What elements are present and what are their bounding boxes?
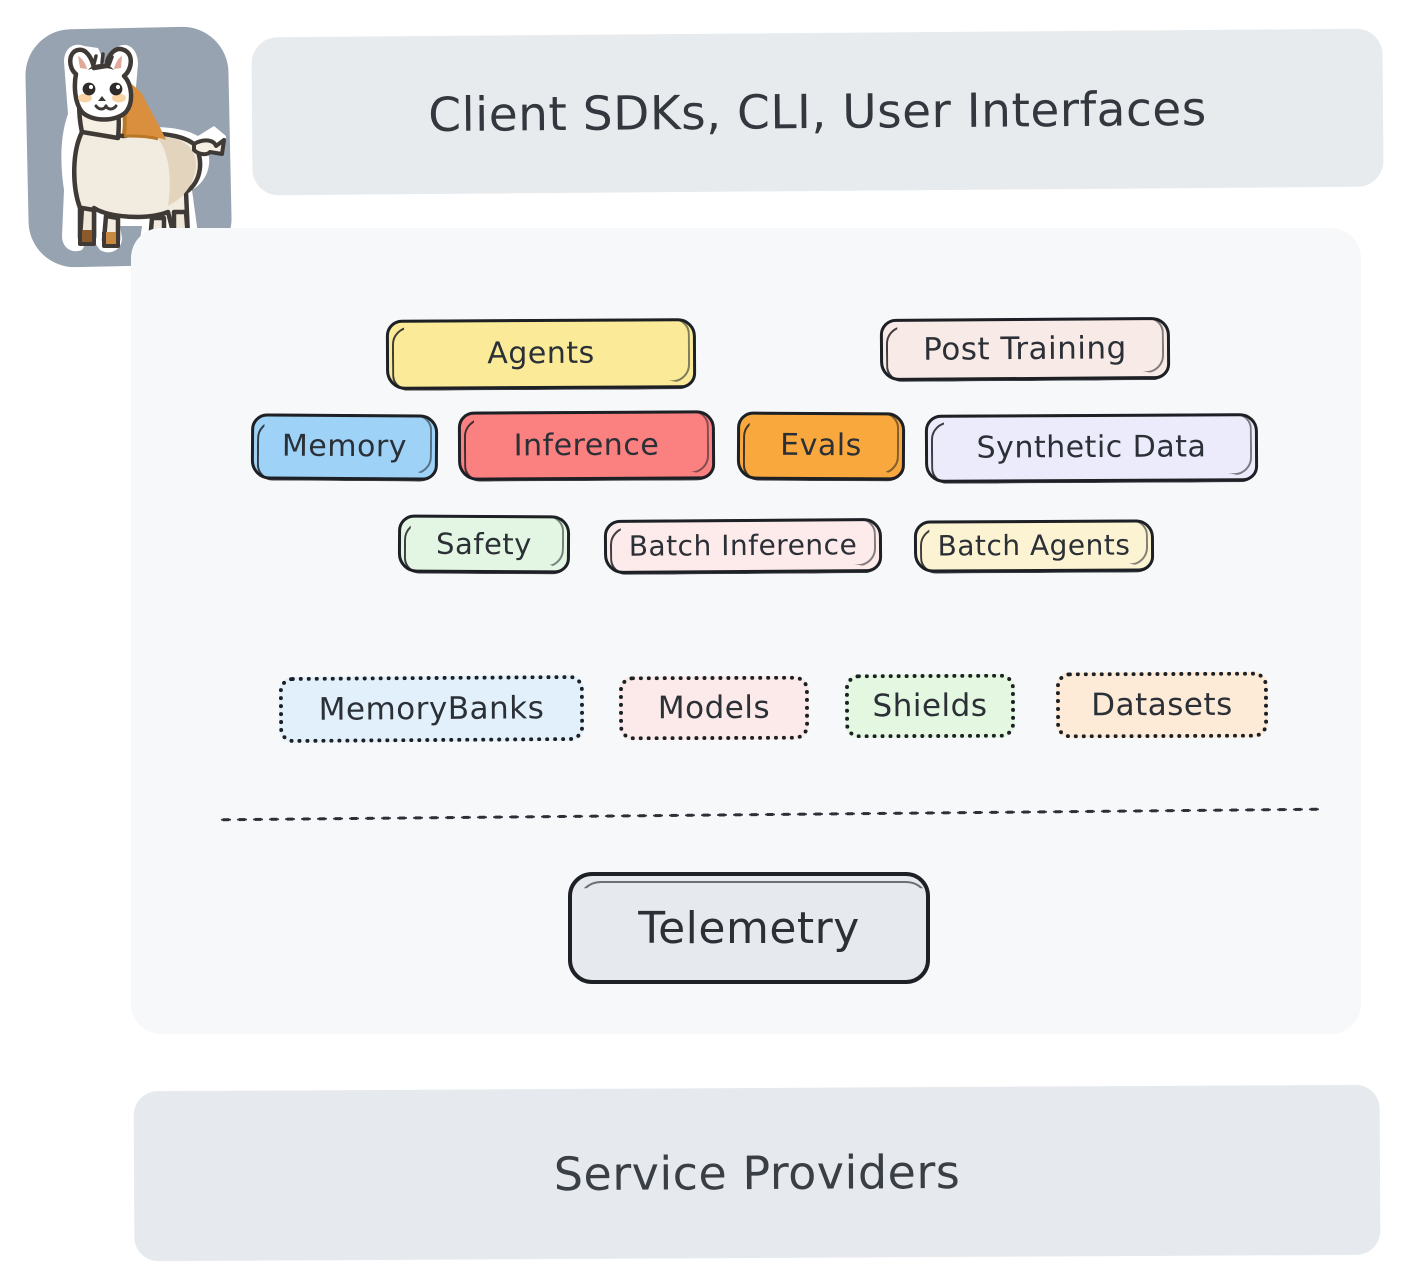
api-box-batch-inference[interactable]: Batch Inference <box>604 518 882 574</box>
api-box-safety[interactable]: Safety <box>398 515 570 574</box>
telemetry-label: Telemetry <box>638 903 860 954</box>
resource-box-shields[interactable]: Shields <box>845 674 1015 739</box>
api-box-inference[interactable]: Inference <box>458 410 715 480</box>
resource-box-datasets-label: Datasets <box>1091 689 1233 720</box>
api-box-batch-agents[interactable]: Batch Agents <box>914 519 1154 572</box>
resource-box-datasets[interactable]: Datasets <box>1056 672 1268 739</box>
api-box-synthetic-data-label: Synthetic Data <box>977 432 1207 463</box>
telemetry-box[interactable]: Telemetry <box>568 872 930 984</box>
api-box-batch-agents-label: Batch Agents <box>937 531 1130 560</box>
api-box-inference-label: Inference <box>514 430 660 461</box>
resource-box-shields-label: Shields <box>872 690 987 721</box>
api-box-post-training-label: Post Training <box>923 333 1127 365</box>
api-box-post-training[interactable]: Post Training <box>880 317 1170 381</box>
api-box-memory[interactable]: Memory <box>251 413 438 480</box>
resource-box-memorybanks[interactable]: MemoryBanks <box>279 675 584 743</box>
resource-box-models[interactable]: Models <box>619 676 809 741</box>
api-box-evals-label: Evals <box>780 431 862 461</box>
api-box-agents[interactable]: Agents <box>386 318 696 390</box>
service-providers-title: Service Providers <box>134 1085 1381 1262</box>
api-box-evals[interactable]: Evals <box>737 412 905 481</box>
api-box-safety-label: Safety <box>436 529 532 559</box>
api-box-batch-inference-label: Batch Inference <box>629 531 858 561</box>
api-box-agents-label: Agents <box>487 339 595 370</box>
resource-box-memorybanks-label: MemoryBanks <box>319 693 545 726</box>
api-box-memory-label: Memory <box>282 432 407 463</box>
api-box-synthetic-data[interactable]: Synthetic Data <box>925 413 1258 483</box>
client-layer-title: Client SDKs, CLI, User Interfaces <box>251 29 1383 196</box>
resource-box-models-label: Models <box>658 692 770 723</box>
